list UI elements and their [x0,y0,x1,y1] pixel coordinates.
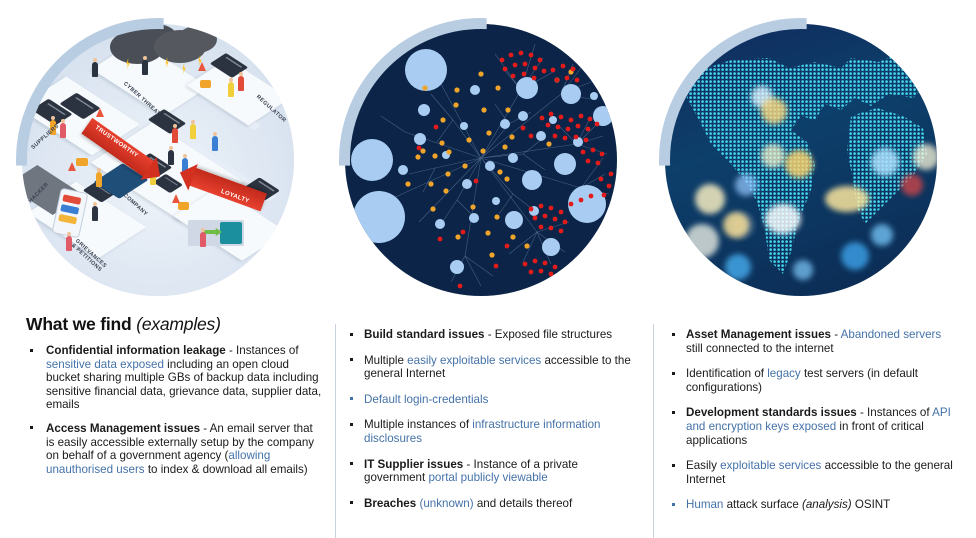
bullet-item: IT Supplier issues - Instance of a priva… [346,458,636,485]
bokeh-light [825,186,869,212]
bullet-dot-icon [350,423,353,426]
bullet-lead-in: Confidential information leakage [46,344,226,357]
person-figure [200,232,206,247]
column-divider-2 [653,324,654,538]
person-figure [228,82,234,97]
figure-band: TRUSTWORTHY LOYALTY SUPPLIERS CYBER THRE… [0,0,976,310]
bullet-dot-icon [672,503,675,506]
person-figure [190,124,196,139]
bullet-text: - Instances of [857,406,932,419]
bokeh-light [871,224,893,246]
bokeh-light [901,174,923,196]
bullet-dot-icon [350,501,353,504]
bullet-text: - [831,328,841,341]
bullet-dot-icon [350,358,353,361]
bullet-text: - Instances of [226,344,299,357]
bokeh-light [841,242,869,270]
page-title: What we find (examples) [26,314,322,335]
bullet-lead-in: Asset Management issues [686,328,831,341]
traffic-cone-icon [172,194,180,203]
bokeh-light [735,174,757,196]
bullet-item: Human attack surface (analysis) OSINT [668,498,960,512]
bokeh-light [723,212,749,238]
bokeh-light [913,144,937,170]
bullet-lead-in: Build standard issues [364,328,484,341]
bullet-highlight: Abandoned servers [841,328,942,341]
bullet-text: OSINT [852,498,891,511]
delivery-truck-icon [188,220,244,246]
figure-business-ecosystem: TRUSTWORTHY LOYALTY SUPPLIERS CYBER THRE… [22,24,294,296]
bullet-highlight: (unknown) [419,497,473,510]
bokeh-light [871,148,899,176]
bullet-list-1: Confidential information leakage - Insta… [26,344,322,476]
bullet-highlight: legacy [767,367,801,380]
bokeh-light [785,150,813,178]
bullet-text: Multiple [364,354,407,367]
column-divider-1 [335,324,336,538]
bokeh-light [761,144,785,168]
bullet-text: still connected to the internet [686,342,834,355]
column-asset-findings: Asset Management issues - Abandoned serv… [668,310,960,524]
bullet-item: Identification of legacy test servers (i… [668,367,960,394]
bokeh-light [685,224,719,258]
cart-icon [178,202,189,210]
bullet-dot-icon [672,464,675,467]
person-figure [172,128,178,143]
bullet-item: Confidential information leakage - Insta… [26,344,322,412]
bullet-item: Multiple instances of infrastructure inf… [346,418,636,445]
bullet-dot-icon [30,426,33,429]
bullet-item: Asset Management issues - Abandoned serv… [668,328,960,355]
bullet-list-3: Asset Management issues - Abandoned serv… [668,328,960,512]
bokeh-light [793,260,813,280]
bullet-item: Build standard issues - Exposed file str… [346,328,636,342]
bullet-highlight: exploitable services [720,459,821,472]
bullet-item: Easily exploitable services accessible t… [668,459,960,486]
bullet-text: - Exposed file structures [484,328,612,341]
person-figure [212,136,218,151]
bullet-dot-icon [672,333,675,336]
bullet-text: Multiple instances of [364,418,472,431]
bokeh-light [695,184,725,214]
bullet-item: Default login-credentials [346,393,636,407]
bullet-lead-in: Breaches [364,497,416,510]
traffic-cone-icon [198,62,206,71]
cart-icon [76,158,88,166]
bullet-highlight: portal publicly viewable [428,471,547,484]
bullet-text: Easily [686,459,720,472]
page-title-italic: (examples) [136,314,221,334]
storm-cloud-icon [177,26,217,53]
bullet-highlight: Default login-credentials [364,393,488,406]
bullet-dot-icon [672,372,675,375]
bullet-dot-icon [350,333,353,336]
bullet-item: Access Management issues - An email serv… [26,422,322,476]
bullet-italic: (analysis) [802,498,852,511]
bullet-item: Breaches (unknown) and details thereof [346,497,636,511]
bullet-item: Multiple easily exploitable services acc… [346,354,636,381]
bokeh-light [765,204,801,234]
person-figure [168,150,174,165]
figure-network-graph [345,24,617,296]
bullet-item: Development standards issues - Instances… [668,406,960,447]
bullet-text: Identification of [686,367,767,380]
bullet-dot-icon [672,411,675,414]
column-what-we-find: What we find (examples) Confidential inf… [26,310,322,486]
bullet-lead-in: IT Supplier issues [364,458,463,471]
page-title-bold: What we find [26,314,132,334]
bullet-lead-in: Development standards issues [686,406,857,419]
bullet-highlight: easily exploitable services [407,354,541,367]
bokeh-light [725,254,751,280]
findings-content: What we find (examples) Confidential inf… [0,310,976,538]
person-figure [238,76,244,91]
bullet-list-2: Build standard issues - Exposed file str… [346,328,636,510]
bullet-dot-icon [350,397,353,400]
bullet-text: attack surface [723,498,802,511]
bullet-text: to index & download all emails) [145,463,308,476]
bullet-highlight: Human [686,498,723,511]
bullet-dot-icon [350,462,353,465]
bullet-text: and details thereof [474,497,573,510]
bullet-lead-in: Access Management issues [46,422,200,435]
column-technical-findings: Build standard issues - Exposed file str… [346,310,636,522]
person-figure [92,206,98,221]
figure-world-map [665,24,937,296]
bullet-highlight: sensitive data exposed [46,358,164,371]
person-figure [96,172,102,187]
bullet-dot-icon [30,349,33,352]
cart-icon [200,80,211,88]
